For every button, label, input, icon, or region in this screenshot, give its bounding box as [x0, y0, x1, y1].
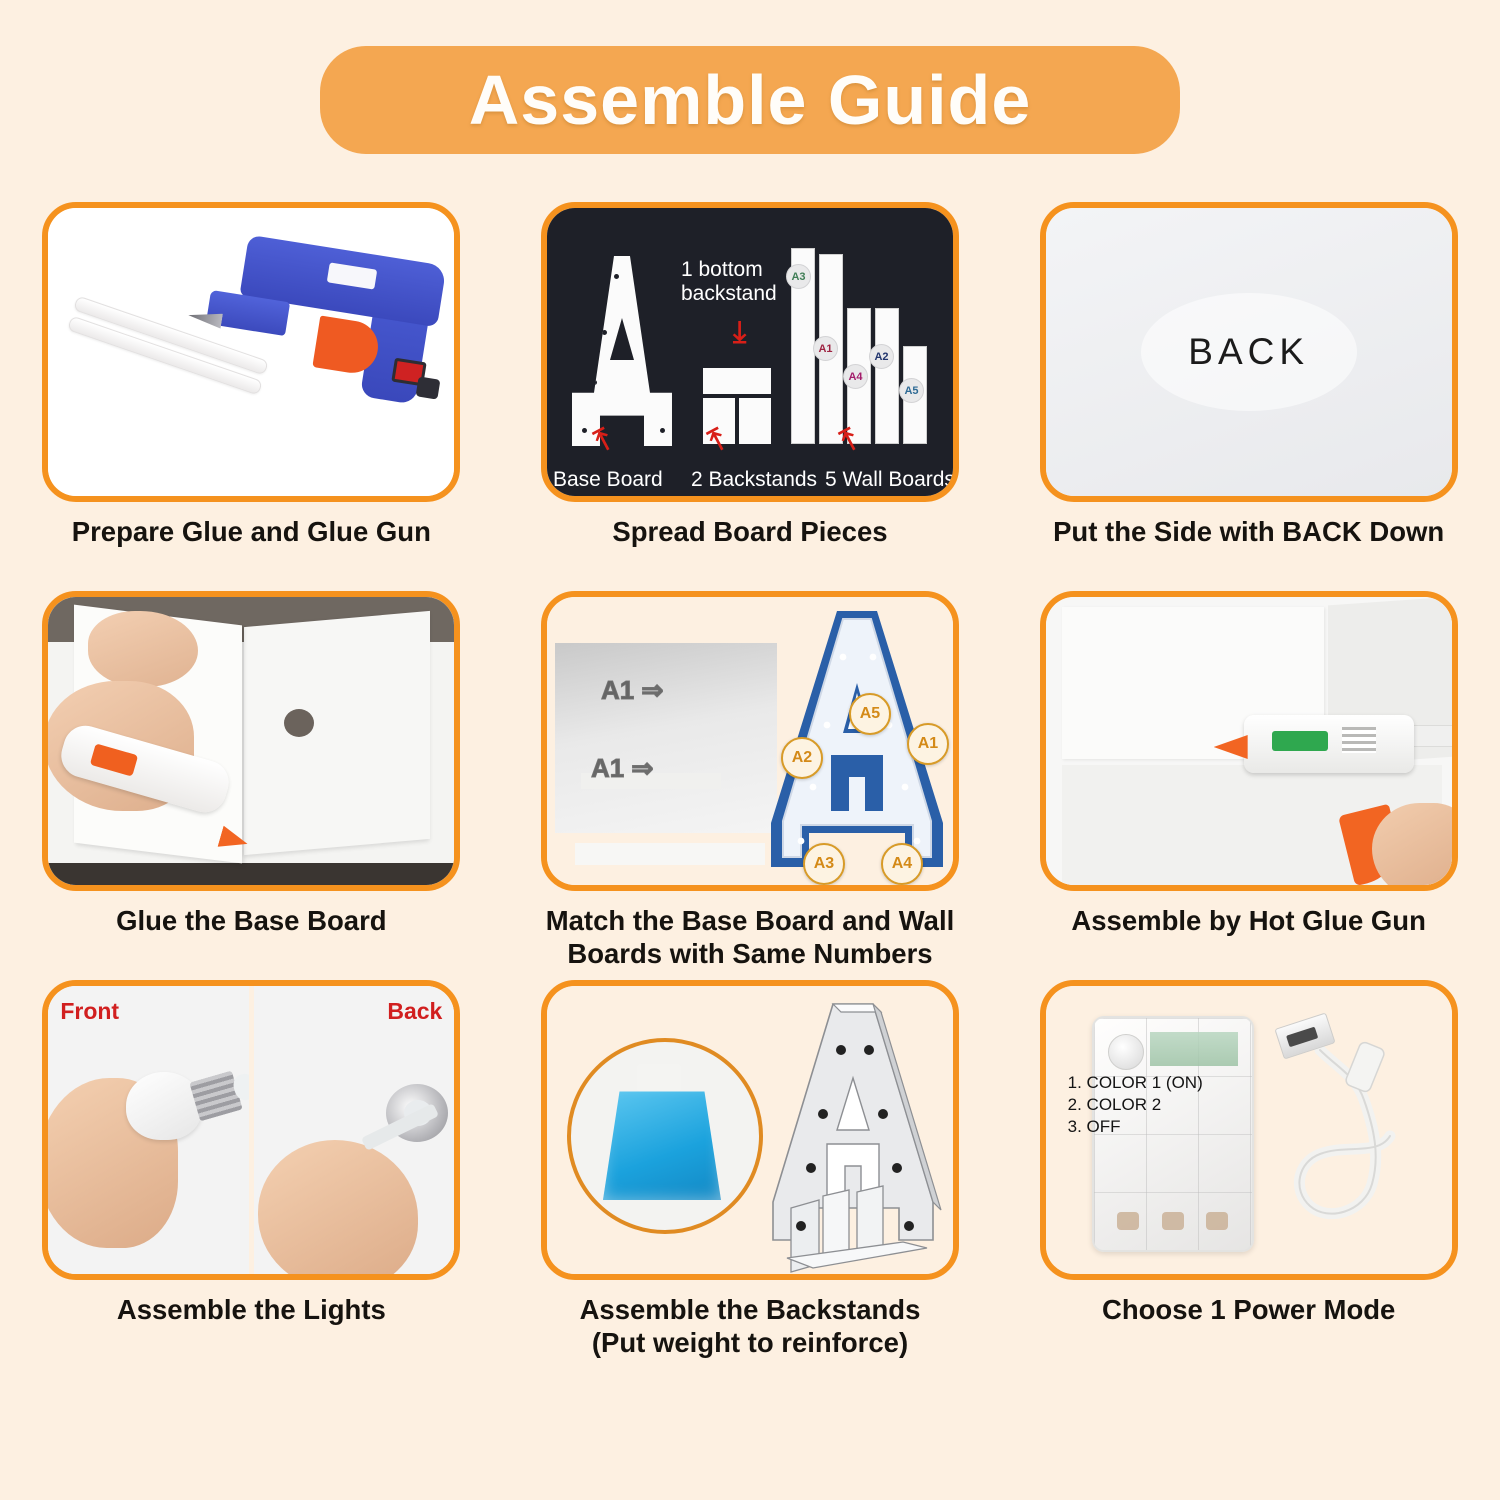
circuit-board — [1150, 1032, 1238, 1066]
side-board — [244, 611, 430, 855]
glue-gun-cord-cap — [416, 376, 441, 399]
step-card-8: Assemble the Backstands (Put weight to r… — [527, 980, 974, 1359]
gluing-base-board-photo — [48, 597, 454, 885]
lights-install-photos: Front Back — [48, 986, 454, 1274]
step-image-1 — [42, 202, 460, 502]
edge-label-a1-lower: A1 ⇒ — [591, 753, 653, 784]
badge-a2: A2 — [869, 344, 894, 369]
badge-a2: A2 — [781, 737, 823, 779]
hand-top — [88, 611, 198, 687]
step-card-4: Glue the Base Board — [28, 591, 475, 970]
base-board-letter-a — [572, 256, 672, 446]
board-edge-photo: A1 ⇒ A1 ⇒ — [555, 643, 777, 833]
title-banner: Assemble Guide — [320, 46, 1180, 154]
back-label: BACK — [1188, 331, 1309, 373]
header: Assemble Guide — [0, 0, 1500, 154]
step-caption-6: Assemble by Hot Glue Gun — [1071, 904, 1426, 937]
back-view-photo: Back — [254, 986, 455, 1274]
label-5-wall-boards: 5 Wall Boards — [825, 468, 955, 492]
board-tab — [575, 843, 765, 865]
glue-gun-illustration — [48, 208, 454, 496]
water-bag-cap — [637, 1064, 681, 1092]
step-card-9: 1. COLOR 1 (ON) 2. COLOR 2 3. OFF Choose… — [1025, 980, 1472, 1359]
step-image-5: A1 ⇒ A1 ⇒ — [541, 591, 959, 891]
badge-a5: A5 — [899, 378, 924, 403]
weight-inset-circle — [567, 1038, 763, 1234]
page-title: Assemble Guide — [469, 60, 1032, 140]
glue-gun-body — [1244, 715, 1414, 773]
step-image-7: Front Back — [42, 980, 460, 1280]
power-mode-list: 1. COLOR 1 (ON) 2. COLOR 2 3. OFF — [1068, 1072, 1203, 1137]
step-caption-1: Prepare Glue and Glue Gun — [72, 515, 431, 548]
label-base-board: Base Board — [553, 468, 663, 492]
numbered-boards-photo: A1 ⇒ A1 ⇒ — [547, 597, 953, 885]
step-image-6 — [1040, 591, 1458, 891]
letter-a-3d-render: A5 A1 A2 A3 A4 — [765, 605, 949, 891]
hot-glue-gun-photo — [1046, 597, 1452, 885]
hand — [258, 1140, 418, 1274]
edge-label-a1-upper: A1 ⇒ — [601, 675, 663, 706]
power-button-icon — [1108, 1034, 1144, 1070]
step-card-5: A1 ⇒ A1 ⇒ — [527, 591, 974, 970]
front-label: Front — [60, 998, 119, 1025]
step-image-4 — [42, 591, 460, 891]
step-caption-8: Assemble the Backstands (Put weight to r… — [580, 1293, 921, 1359]
step-image-9: 1. COLOR 1 (ON) 2. COLOR 2 3. OFF — [1040, 980, 1458, 1280]
backstand-top — [703, 368, 771, 394]
glue-gun-label — [1272, 731, 1328, 751]
battery-cell — [1117, 1212, 1139, 1230]
steps-grid: Prepare Glue and Glue Gun — [28, 202, 1472, 1359]
power-options-photo: 1. COLOR 1 (ON) 2. COLOR 2 3. OFF — [1046, 986, 1452, 1274]
badge-a4: A4 — [843, 364, 868, 389]
badge-a4: A4 — [881, 843, 923, 885]
glue-gun-vent — [1342, 727, 1376, 753]
badge-a5: A5 — [849, 693, 891, 735]
step-card-1: Prepare Glue and Glue Gun — [28, 202, 475, 581]
wall-board-a2 — [875, 308, 899, 444]
battery-cell — [1206, 1212, 1228, 1230]
step-image-3: BACK — [1040, 202, 1458, 502]
badge-a1: A1 — [907, 723, 949, 765]
backstand-right — [739, 398, 771, 444]
letter-a-counter — [610, 318, 634, 360]
front-view-photo: Front — [48, 986, 249, 1274]
board-pieces-diagram: A3 A1 A2 A4 A5 1 bottom backstand ⤓ ⤒ ⤒ … — [547, 208, 953, 496]
step-image-2: A3 A1 A2 A4 A5 1 bottom backstand ⤓ ⤒ ⤒ … — [541, 202, 959, 502]
label-2-backstands: 2 Backstands — [691, 468, 817, 492]
step-caption-7: Assemble the Lights — [117, 1293, 386, 1326]
badge-a3: A3 — [786, 264, 811, 289]
step-caption-9: Choose 1 Power Mode — [1102, 1293, 1395, 1326]
arrow-down-icon: ⤓ — [733, 318, 746, 348]
badge-a1: A1 — [813, 336, 838, 361]
step-card-2: A3 A1 A2 A4 A5 1 bottom backstand ⤓ ⤒ ⤒ … — [527, 202, 974, 581]
step-card-6: Assemble by Hot Glue Gun — [1025, 591, 1472, 970]
step-card-3: BACK Put the Side with BACK Down — [1025, 202, 1472, 581]
back-board-photo: BACK — [1046, 208, 1452, 496]
step-caption-4: Glue the Base Board — [116, 904, 387, 937]
badge-a3: A3 — [803, 843, 845, 885]
step-caption-5: Match the Base Board and Wall Boards wit… — [546, 904, 955, 970]
letter-a-backstand-render — [757, 996, 947, 1278]
back-label: Back — [387, 998, 442, 1025]
battery-cells — [1106, 1208, 1240, 1234]
callout-bottom-backstand: 1 bottom backstand — [681, 258, 777, 305]
backstands-photo — [547, 986, 953, 1274]
desk-surface — [48, 863, 454, 885]
step-image-8 — [541, 980, 959, 1280]
step-card-7: Front Back Assemble the Lights — [28, 980, 475, 1359]
water-bag-weight-icon — [603, 1082, 721, 1200]
step-caption-3: Put the Side with BACK Down — [1053, 515, 1444, 548]
battery-cell — [1162, 1212, 1184, 1230]
step-caption-2: Spread Board Pieces — [612, 515, 887, 548]
